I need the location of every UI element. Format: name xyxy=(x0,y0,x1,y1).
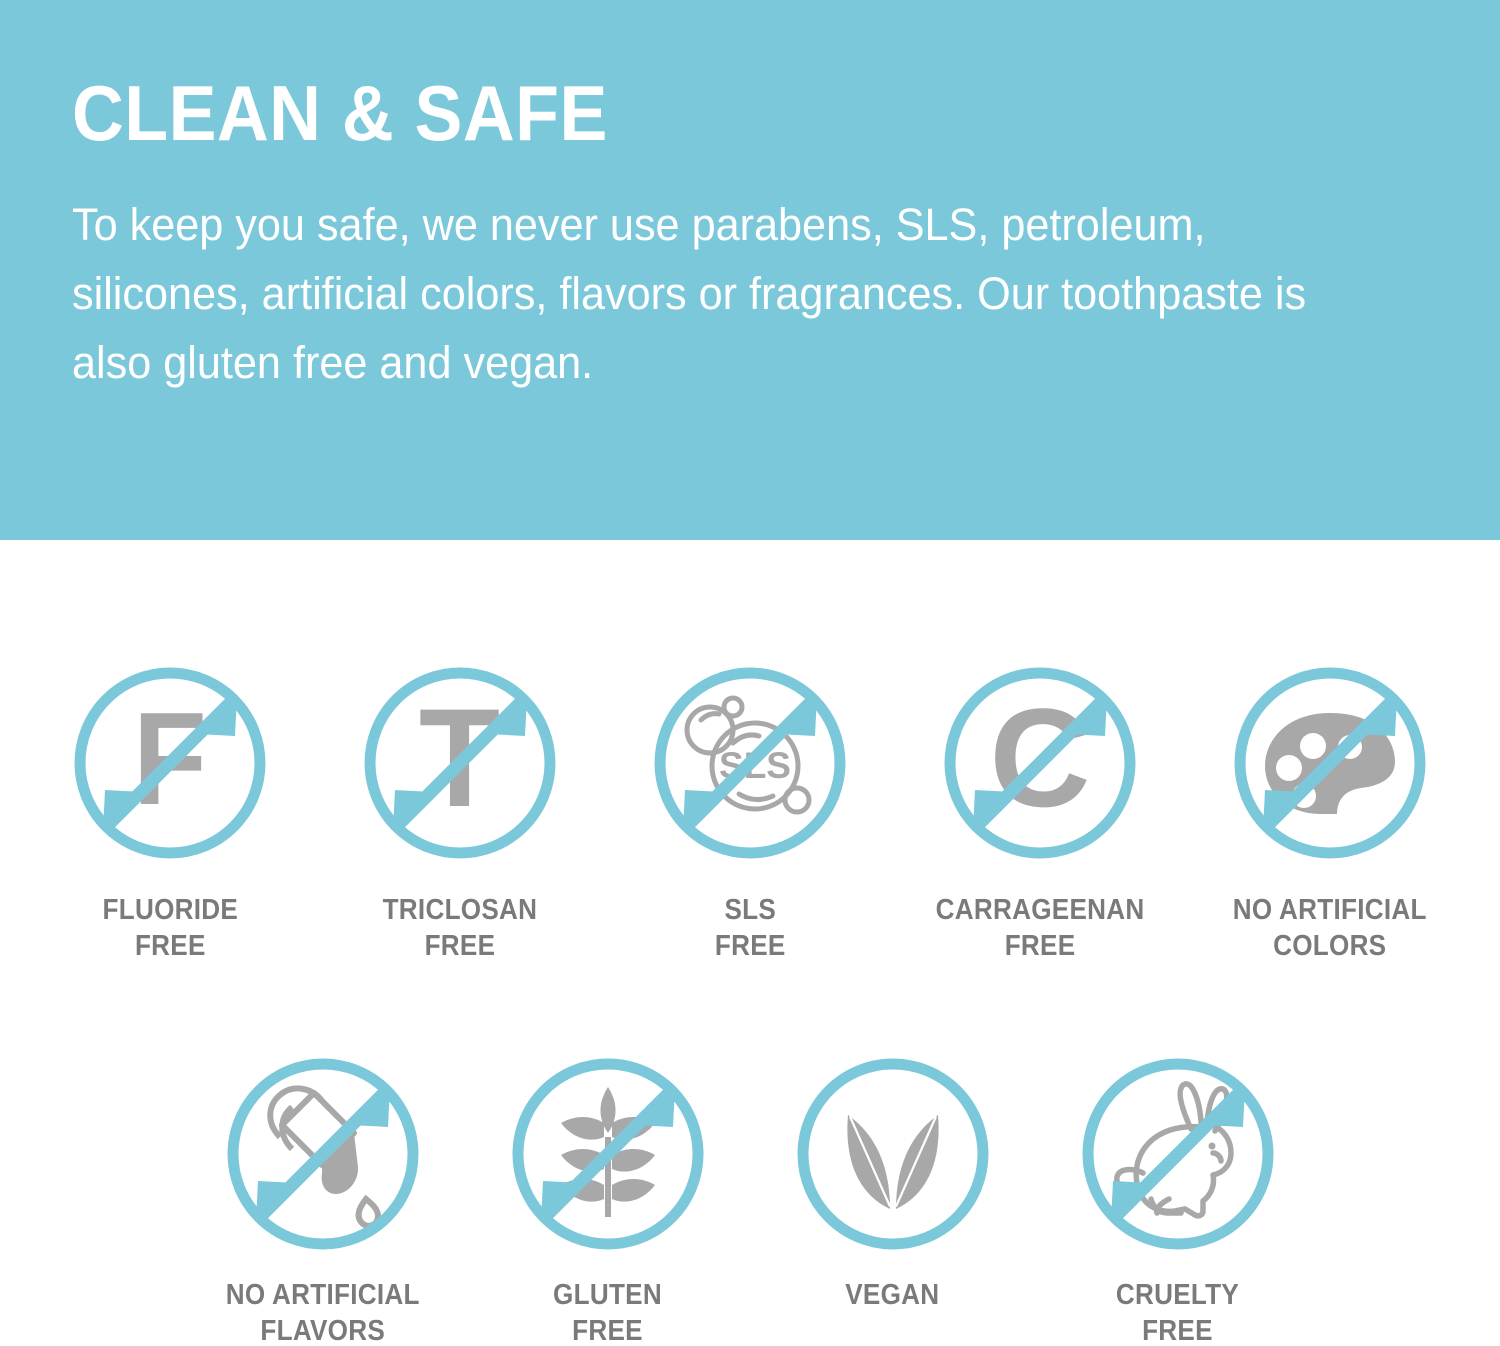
triclosan-free-icon: T xyxy=(355,658,565,868)
badge-label: TRICLOSAN FREE xyxy=(383,892,538,964)
badge-no-artificial-flavors: NO ARTIFICIAL FLAVORS xyxy=(180,1049,465,1346)
badge-carrageenan-free: C CARRAGEENAN FREE xyxy=(895,658,1185,964)
page-title: CLEAN & SAFE xyxy=(72,72,1386,154)
badge-no-artificial-colors: NO ARTIFICIAL COLORS xyxy=(1185,658,1475,964)
badge-gluten-free: GLUTEN FREE xyxy=(465,1049,750,1346)
badge-label: VEGAN xyxy=(845,1277,939,1313)
clean-and-safe-infographic: CLEAN & SAFE To keep you safe, we never … xyxy=(0,0,1500,1346)
badge-cruelty-free: CRUELTY FREE xyxy=(1035,1049,1320,1346)
badge-sls-free: SLS SLS FREE xyxy=(605,658,895,964)
badge-label: CARRAGEENAN FREE xyxy=(936,892,1145,964)
badge-vegan: VEGAN xyxy=(750,1049,1035,1313)
badge-label: GLUTEN FREE xyxy=(553,1277,662,1346)
no-artificial-flavors-icon xyxy=(218,1049,428,1259)
cruelty-free-icon xyxy=(1073,1049,1283,1259)
hero-description: To keep you safe, we never use parabens,… xyxy=(72,190,1330,397)
no-artificial-colors-icon xyxy=(1225,658,1435,868)
gluten-free-icon xyxy=(503,1049,713,1259)
badge-label: NO ARTIFICIAL FLAVORS xyxy=(226,1277,420,1346)
sls-free-icon: SLS xyxy=(645,658,855,868)
fluoride-free-icon: F xyxy=(65,658,275,868)
vegan-icon xyxy=(788,1049,998,1259)
hero-banner: CLEAN & SAFE To keep you safe, we never … xyxy=(0,0,1500,540)
badge-triclosan-free: T TRICLOSAN FREE xyxy=(315,658,605,964)
carrageenan-free-icon: C xyxy=(935,658,1145,868)
badge-label: SLS FREE xyxy=(715,892,786,964)
badge-label: CRUELTY FREE xyxy=(1116,1277,1239,1346)
badge-label: FLUORIDE FREE xyxy=(102,892,238,964)
badge-label: NO ARTIFICIAL COLORS xyxy=(1233,892,1427,964)
badge-fluoride-free: F FLUORIDE FREE xyxy=(25,658,315,964)
badge-row-1: F FLUORIDE FREE T xyxy=(0,540,1500,964)
badge-grid: F FLUORIDE FREE T xyxy=(0,540,1500,1346)
badge-row-2: NO ARTIFICIAL FLAVORS xyxy=(0,964,1500,1346)
